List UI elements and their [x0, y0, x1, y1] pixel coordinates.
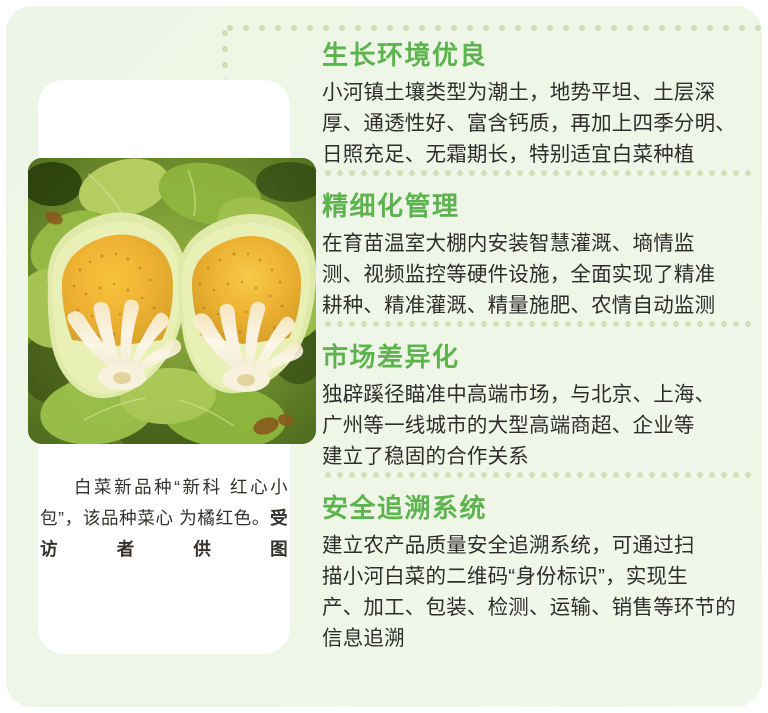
photo-card: 白菜新品种“新科 红心小包”，该品种菜心 为橘红色。受访者供图 — [38, 80, 290, 654]
section-body-line: 厚、通透性好、富含钙质，再加上四季分明、 — [322, 108, 750, 139]
dotted-decoration-vertical — [222, 25, 228, 79]
section-body: 建立农产品质量安全追溯系统，可通过扫 描小河白菜的二维码“身份标识”，实现生 产… — [322, 530, 750, 654]
section-safety-traceability: 安全追溯系统 建立农产品质量安全追溯系统，可通过扫 描小河白菜的二维码“身份标识… — [322, 472, 750, 654]
photo-caption-line-3: 为橘红色。 — [179, 508, 270, 528]
section-body-line: 小河镇土壤类型为潮土，地势平坦、土层深 — [322, 77, 750, 108]
section-body-line: 广州等一线城市的大型高端商超、企业等 — [322, 410, 750, 441]
dotted-decoration-horizontal — [222, 25, 762, 31]
section-body-line: 独辟蹊径瞄准中高端市场，与北京、上海、 — [322, 379, 750, 410]
section-body-line: 测、视频监控等硬件设施，全面实现了精准 — [322, 259, 750, 290]
section-body-line: 耕种、精准灌溉、精量施肥、农情自动监测 — [322, 290, 750, 321]
photo-caption: 白菜新品种“新科 红心小包”，该品种菜心 为橘红色。受访者供图 — [40, 472, 288, 565]
section-title: 生长环境优良 — [322, 38, 750, 73]
section-body-line: 日照充足、无霜期长，特别适宜白菜种植 — [322, 139, 750, 170]
section-title: 市场差异化 — [322, 340, 750, 375]
section-body-line: 建立农产品质量安全追溯系统，可通过扫 — [322, 530, 750, 561]
section-body: 独辟蹊径瞄准中高端市场，与北京、上海、 广州等一线城市的大型高端商超、企业等 建… — [322, 379, 750, 472]
section-body: 在育苗温室大棚内安装智慧灌溉、墒情监 测、视频监控等硬件设施，全面实现了精准 耕… — [322, 228, 750, 321]
section-body: 小河镇土壤类型为潮土，地势平坦、土层深 厚、通透性好、富含钙质，再加上四季分明、… — [322, 77, 750, 170]
section-title: 安全追溯系统 — [322, 491, 750, 526]
section-market-differentiation: 市场差异化 独辟蹊径瞄准中高端市场，与北京、上海、 广州等一线城市的大型高端商超… — [322, 321, 750, 472]
section-body-line: 产、加工、包装、检测、运输、销售等环节的 — [322, 592, 750, 623]
photo-caption-line-1: 白菜新品种“新科 — [40, 477, 223, 497]
infographic-panel: 白菜新品种“新科 红心小包”，该品种菜心 为橘红色。受访者供图 生长环境优良 小… — [6, 6, 762, 707]
cabbage-photo — [28, 158, 316, 444]
section-body-line: 建立了稳固的合作关系 — [322, 441, 750, 472]
sections-column: 生长环境优良 小河镇土壤类型为潮土，地势平坦、土层深 厚、通透性好、富含钙质，再… — [322, 32, 750, 654]
section-body-line: 在育苗温室大棚内安装智慧灌溉、墒情监 — [322, 228, 750, 259]
section-title: 精细化管理 — [322, 189, 750, 224]
cabbage-photo-illustration — [28, 158, 316, 444]
section-body-line: 描小河白菜的二维码“身份标识”，实现生 — [322, 561, 750, 592]
section-body-line: 信息追溯 — [322, 623, 750, 654]
section-growing-environment: 生长环境优良 小河镇土壤类型为潮土，地势平坦、土层深 厚、通透性好、富含钙质，再… — [322, 38, 750, 170]
section-refined-management: 精细化管理 在育苗温室大棚内安装智慧灌溉、墒情监 测、视频监控等硬件设施，全面实… — [322, 170, 750, 321]
